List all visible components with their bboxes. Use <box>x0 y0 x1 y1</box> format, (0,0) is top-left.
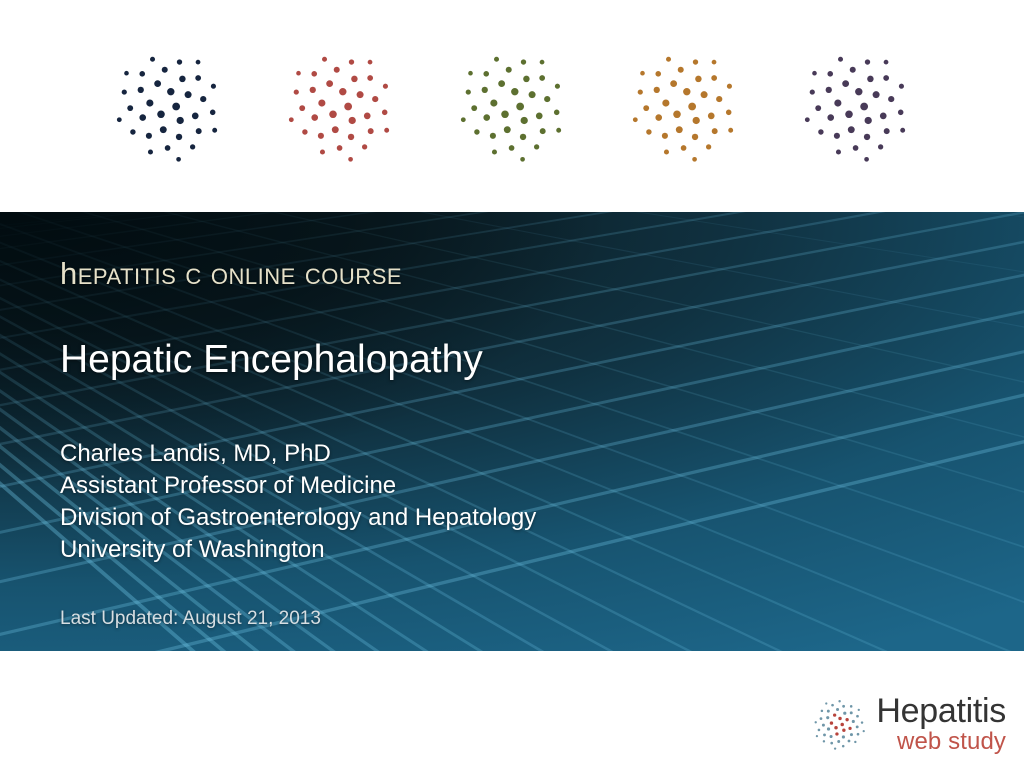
decorative-dot-band <box>0 0 1024 212</box>
presentation-title-slide: Hepatitis C Online Course Hepatic Enceph… <box>0 0 1024 768</box>
logo-word-hepatitis: Hepatitis <box>876 694 1006 728</box>
dot-cluster-navy <box>112 49 227 164</box>
hero-content: Hepatitis C Online Course Hepatic Enceph… <box>60 212 940 651</box>
logo-word-web-study: web study <box>897 730 1006 754</box>
presenter-byline: Charles Landis, MD, PhD Assistant Profes… <box>60 438 536 566</box>
hepatitis-web-study-logo: Hepatitis web study <box>812 694 1006 754</box>
dot-cluster-olive <box>456 49 571 164</box>
hero-banner: Hepatitis C Online Course Hepatic Enceph… <box>0 212 1024 651</box>
dot-cluster-purple <box>800 49 915 164</box>
course-name-eyebrow: Hepatitis C Online Course <box>60 258 402 289</box>
last-updated-text: Last Updated: August 21, 2013 <box>60 609 321 628</box>
slide-footer: Hepatitis web study <box>0 651 1024 768</box>
dot-cluster-red <box>284 49 399 164</box>
page-title: Hepatic Encephalopathy <box>60 340 483 379</box>
dot-cluster-orange <box>628 49 743 164</box>
byline-line-presenter: Charles Landis, MD, PhD <box>60 438 536 470</box>
logo-wordmark: Hepatitis web study <box>876 694 1006 754</box>
byline-line-role: Assistant Professor of Medicine <box>60 470 536 502</box>
byline-line-division: Division of Gastroenterology and Hepatol… <box>60 502 536 534</box>
byline-line-institution: University of Washington <box>60 534 536 566</box>
logo-dot-mark-icon <box>812 697 867 752</box>
